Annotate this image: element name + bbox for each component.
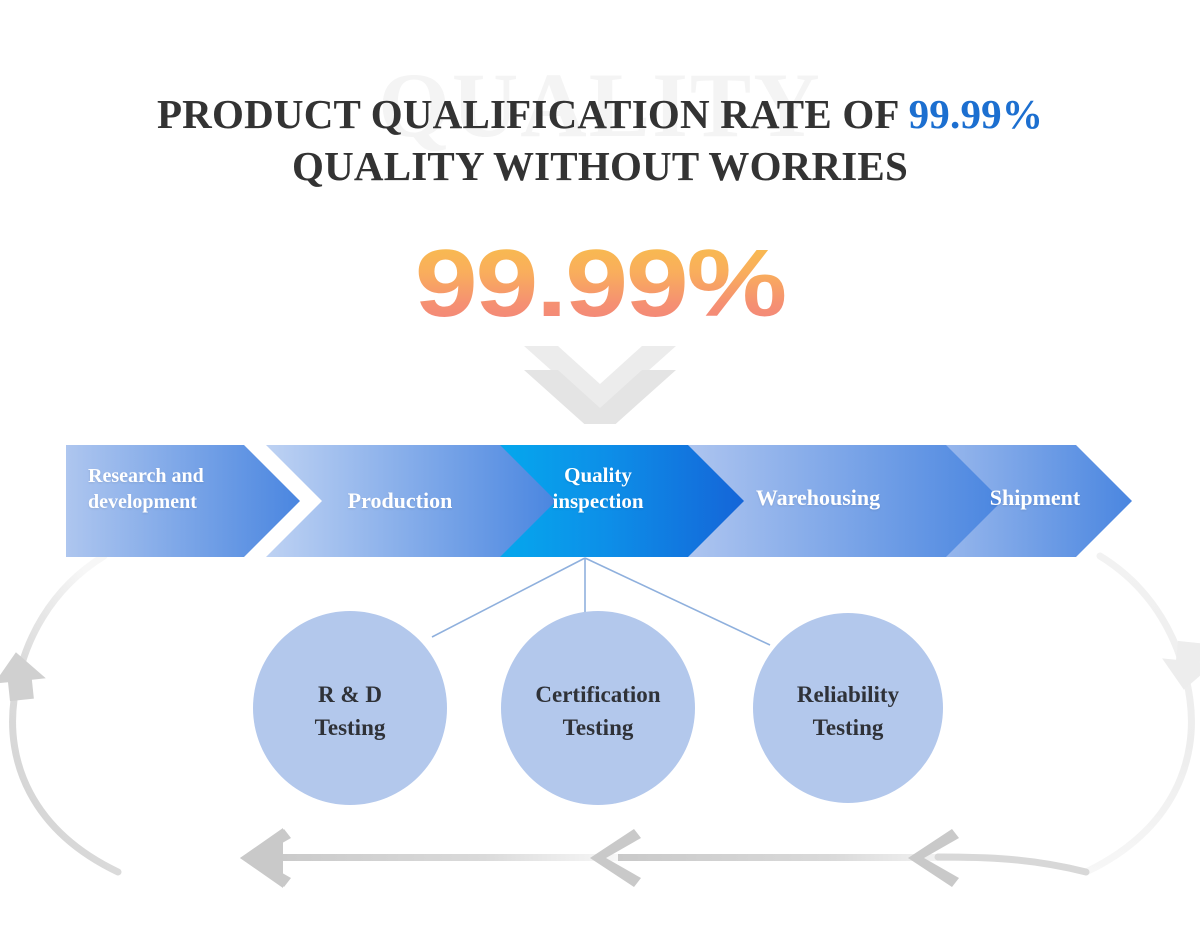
process-step-shape-production [266, 445, 556, 557]
testing-node-circle-rd [253, 611, 447, 805]
testing-node-circle-certification [501, 611, 695, 805]
process-flow-bar [66, 445, 1132, 557]
feedback-arrow-3 [908, 829, 1086, 887]
right-loop-arrowhead [1159, 639, 1200, 692]
left-loop-arrow-path [13, 556, 118, 872]
testing-node-circle-reliability [753, 613, 943, 803]
process-step-shape-research-development [66, 445, 300, 557]
right-loop-arrow-path [1086, 556, 1191, 872]
